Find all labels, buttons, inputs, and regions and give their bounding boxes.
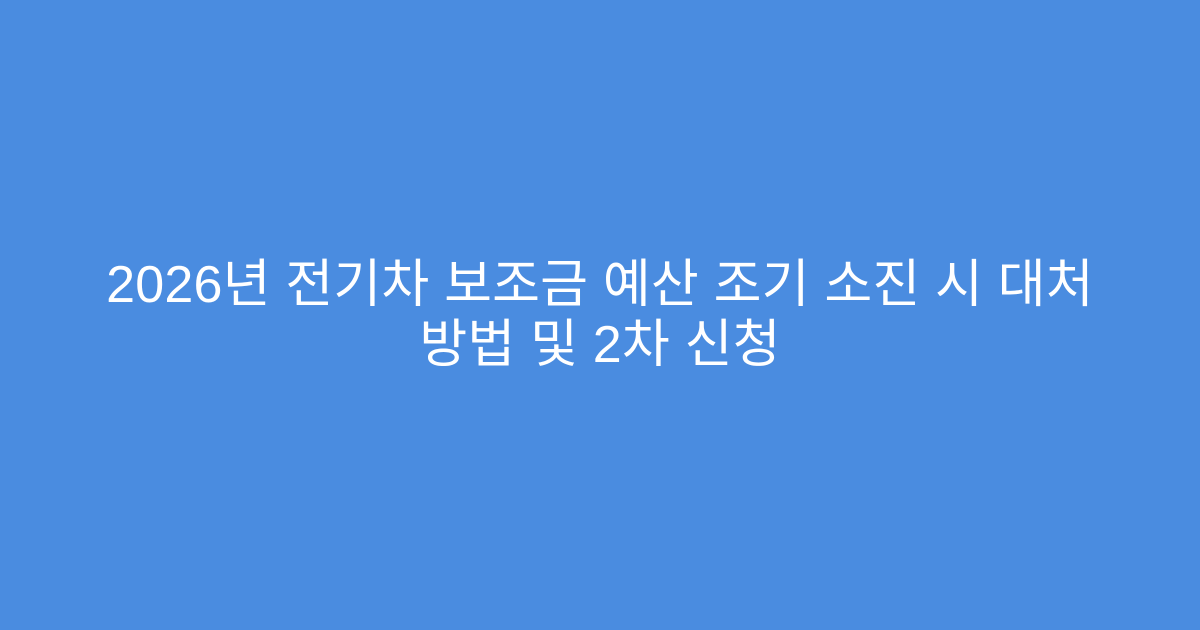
title-block: 2026년 전기차 보조금 예산 조기 소진 시 대처 방법 및 2차 신청 <box>40 255 1160 375</box>
og-card: 2026년 전기차 보조금 예산 조기 소진 시 대처 방법 및 2차 신청 <box>0 0 1200 630</box>
page-title: 2026년 전기차 보조금 예산 조기 소진 시 대처 방법 및 2차 신청 <box>70 255 1130 375</box>
